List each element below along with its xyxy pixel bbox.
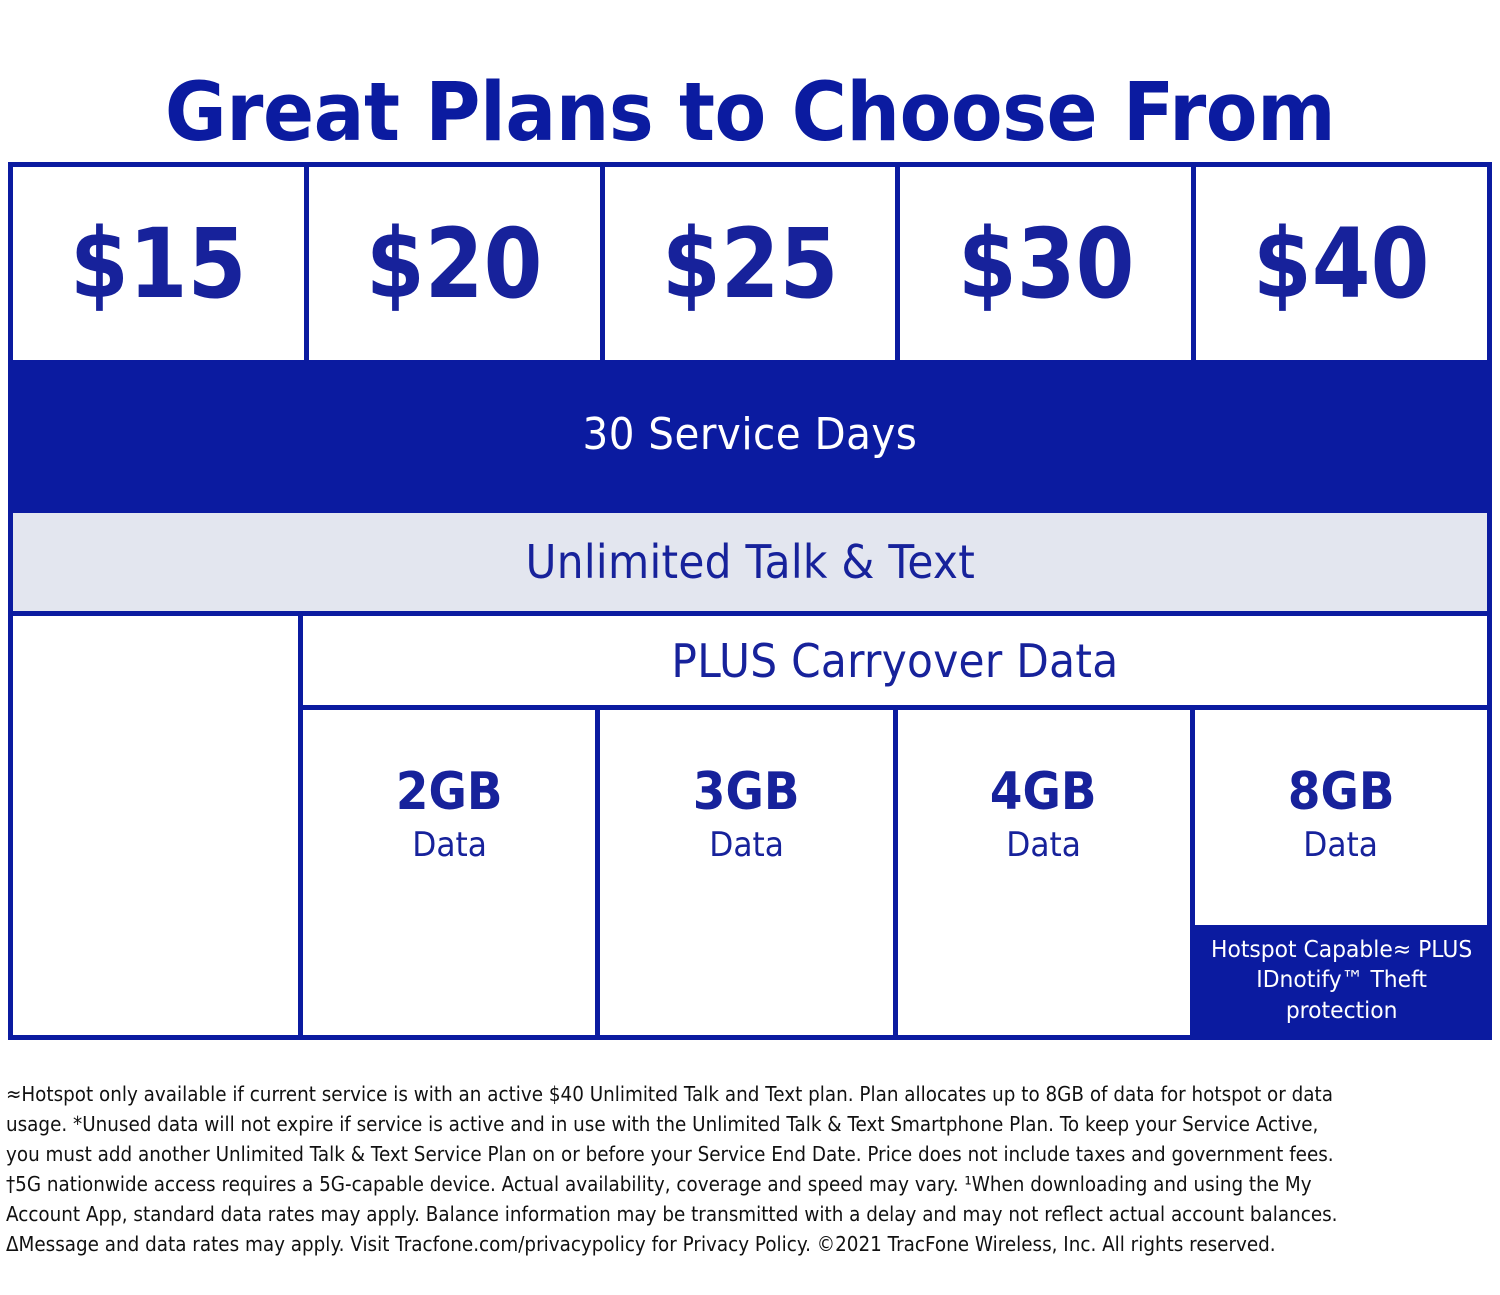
legal-footnote: ≈Hotspot only available if current servi… [6,1079,1338,1259]
data-cell-3gb[interactable]: 3GB Data [600,710,897,1035]
data-cell-4gb[interactable]: 4GB Data [898,710,1195,1035]
hotspot-capable-badge-text: Hotspot Capable≈ PLUS IDnotify™ Theft pr… [1208,935,1475,1026]
price-cell-40[interactable]: $40 [1196,167,1487,360]
data-sublabel-3gb: Data [709,828,784,862]
unlimited-talk-text-label: Unlimited Talk & Text [525,535,975,589]
price-cell-25[interactable]: $25 [605,167,901,360]
service-days-row: 30 Service Days [13,360,1487,508]
plans-comparison-table: $15 $20 $25 $30 $40 30 Service Days Unli… [8,162,1492,1040]
unlimited-talk-text-row: Unlimited Talk & Text [13,508,1487,616]
data-cell-8gb[interactable]: 8GB Data Hotspot Capable≈ PLUS IDnotify™… [1195,710,1487,1035]
empty-cell-column-15 [13,616,303,1035]
carryover-data-section: PLUS Carryover Data 2GB Data 3GB Data 4G… [13,616,1487,1035]
price-label-20: $20 [366,216,542,312]
price-cell-15[interactable]: $15 [13,167,309,360]
data-amount-3gb: 3GB [693,766,800,818]
price-label-15: $15 [70,216,246,312]
carryover-header-row: PLUS Carryover Data [303,616,1487,710]
carryover-block: PLUS Carryover Data 2GB Data 3GB Data 4G… [303,616,1487,1035]
price-cell-20[interactable]: $20 [309,167,605,360]
data-amount-2gb: 2GB [396,766,503,818]
carryover-data-label: PLUS Carryover Data [671,634,1118,688]
price-label-40: $40 [1253,216,1429,312]
data-amount-8gb: 8GB [1288,766,1395,818]
price-label-25: $25 [662,216,838,312]
data-sublabel-4gb: Data [1006,828,1081,862]
service-days-label: 30 Service Days [583,409,918,460]
price-header-row: $15 $20 $25 $30 $40 [13,167,1487,360]
data-sublabel-2gb: Data [412,828,487,862]
data-allowance-row: 2GB Data 3GB Data 4GB Data 8GB Data Hots… [303,710,1487,1035]
hotspot-capable-badge: Hotspot Capable≈ PLUS IDnotify™ Theft pr… [1195,925,1488,1036]
data-cell-2gb[interactable]: 2GB Data [303,710,600,1035]
data-amount-4gb: 4GB [990,766,1097,818]
price-cell-30[interactable]: $30 [900,167,1196,360]
data-sublabel-8gb: Data [1304,828,1379,862]
price-label-30: $30 [958,216,1134,312]
page-title: Great Plans to Choose From [53,54,1448,172]
